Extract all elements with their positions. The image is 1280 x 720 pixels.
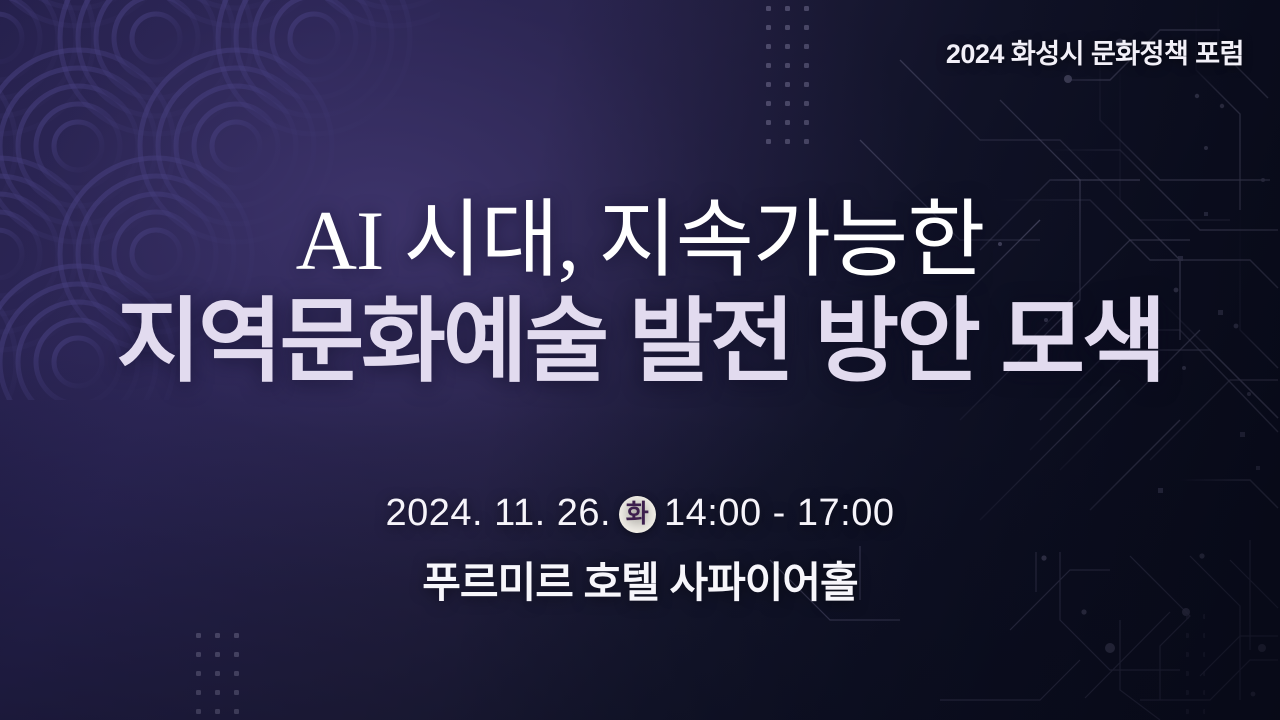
forum-label: 2024 화성시 문화정책 포럼 xyxy=(946,32,1244,71)
event-venue: 푸르미르 호텔 사파이어홀 xyxy=(0,549,1280,610)
event-poster: 2024 화성시 문화정책 포럼 AI 시대, 지속가능한 지역문화예술 발전 … xyxy=(0,0,1280,720)
event-date: 2024. 11. 26. xyxy=(385,492,611,535)
event-time: 14:00 - 17:00 xyxy=(664,492,894,535)
title-line-1: AI 시대, 지속가능한 xyxy=(0,196,1280,286)
event-datetime: 2024. 11. 26. 화 14:00 - 17:00 xyxy=(0,492,1280,535)
event-info: 2024. 11. 26. 화 14:00 - 17:00 푸르미르 호텔 사파… xyxy=(0,492,1280,610)
day-of-week-badge: 화 xyxy=(619,496,656,533)
main-title: AI 시대, 지속가능한 지역문화예술 발전 방안 모색 xyxy=(0,196,1280,392)
title-line-2: 지역문화예술 발전 방안 모색 xyxy=(0,294,1280,392)
poster-content: 2024 화성시 문화정책 포럼 AI 시대, 지속가능한 지역문화예술 발전 … xyxy=(0,0,1280,720)
